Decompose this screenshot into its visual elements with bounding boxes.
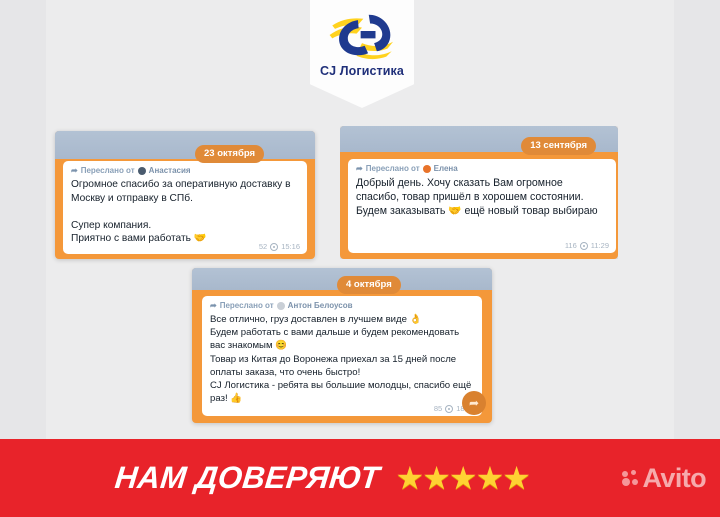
star-icon: ★ bbox=[422, 462, 451, 494]
date-badge: 13 сентября bbox=[521, 137, 596, 155]
message-time: 15:16 bbox=[281, 242, 300, 251]
review-card: 13 сентября ➦ Переслано от Елена Добрый … bbox=[340, 126, 618, 259]
message-bubble: ➦ Переслано от Елена Добрый день. Хочу с… bbox=[348, 159, 616, 253]
review-card: 23 октября ➦ Переслано от Анастасия Огро… bbox=[55, 131, 315, 259]
forward-arrow-icon: ➦ bbox=[210, 302, 217, 310]
star-icon: ★ bbox=[502, 462, 531, 494]
promo-image-root: CJ Логистика 23 октября ➦ Переслано от А… bbox=[0, 0, 720, 517]
cj-logistics-logo-icon bbox=[328, 8, 396, 62]
author-name: Елена bbox=[434, 164, 458, 173]
avito-wordmark: Avito bbox=[643, 463, 707, 494]
eye-icon bbox=[270, 243, 278, 251]
share-forward-button[interactable]: ➦ bbox=[462, 391, 486, 415]
forward-arrow-icon: ➦ bbox=[71, 167, 78, 175]
forward-arrow-icon: ➦ bbox=[469, 396, 479, 410]
brand-name: CJ Логистика bbox=[320, 64, 404, 78]
forwarded-label: Переслано от bbox=[220, 301, 274, 310]
date-badge: 4 октября bbox=[337, 276, 401, 294]
message-text: Огромное спасибо за оперативную доставку… bbox=[71, 178, 299, 246]
star-icon: ★ bbox=[449, 462, 478, 494]
eye-icon bbox=[580, 242, 588, 250]
eye-icon bbox=[445, 405, 453, 413]
avatar bbox=[423, 165, 431, 173]
forward-arrow-icon: ➦ bbox=[356, 165, 363, 173]
message-time: 11:29 bbox=[591, 241, 609, 250]
view-count: 116 bbox=[565, 241, 577, 250]
view-count: 85 bbox=[434, 404, 442, 413]
card-sky-strip bbox=[55, 131, 315, 159]
star-icon: ★ bbox=[476, 462, 505, 494]
trust-headline: НАМ ДОВЕРЯЮТ bbox=[113, 460, 381, 496]
review-card: 4 октября ➦ Переслано от Антон Белоусов … bbox=[192, 268, 492, 423]
message-text: Добрый день. Хочу сказать Вам огромное с… bbox=[356, 176, 608, 218]
date-badge: 23 октября bbox=[195, 145, 264, 163]
avatar bbox=[277, 302, 285, 310]
avito-logo: Avito bbox=[622, 463, 707, 494]
star-rating: ★ ★ ★ ★ ★ bbox=[398, 462, 531, 494]
avito-dots-icon bbox=[622, 470, 639, 487]
forwarded-header: ➦ Переслано от Антон Белоусов bbox=[210, 301, 474, 310]
forwarded-header: ➦ Переслано от Елена bbox=[356, 164, 608, 173]
author-name: Антон Белоусов bbox=[288, 301, 353, 310]
message-bubble: ➦ Переслано от Антон Белоусов Все отличн… bbox=[202, 296, 482, 416]
star-icon: ★ bbox=[396, 462, 425, 494]
author-name: Анастасия bbox=[149, 166, 191, 175]
avatar bbox=[138, 167, 146, 175]
forwarded-label: Переслано от bbox=[366, 164, 420, 173]
message-meta: 116 11:29 bbox=[565, 241, 609, 250]
trust-banner: НАМ ДОВЕРЯЮТ ★ ★ ★ ★ ★ Avito bbox=[0, 439, 720, 517]
forwarded-header: ➦ Переслано от Анастасия bbox=[71, 166, 299, 175]
forwarded-label: Переслано от bbox=[81, 166, 135, 175]
message-bubble: ➦ Переслано от Анастасия Огромное спасиб… bbox=[63, 161, 307, 254]
message-text: Все отлично, груз доставлен в лучшем вид… bbox=[210, 313, 474, 406]
view-count: 52 bbox=[259, 242, 267, 251]
brand-ribbon: CJ Логистика bbox=[310, 0, 414, 108]
message-meta: 52 15:16 bbox=[259, 242, 300, 251]
